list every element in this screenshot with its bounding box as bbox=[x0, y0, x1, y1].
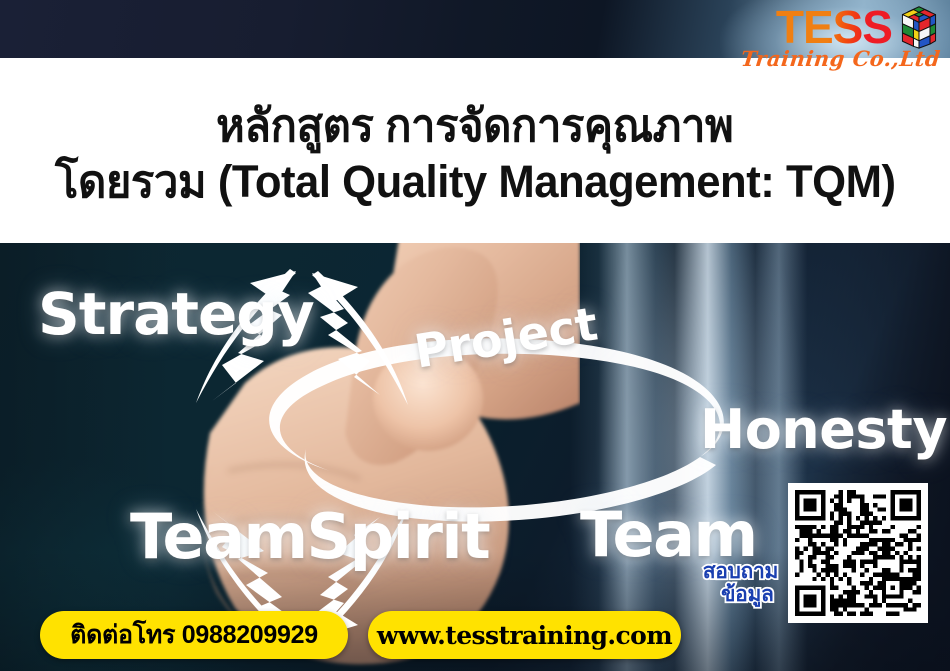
page-title-line1: หลักสูตร การจัดการคุณภาพ bbox=[216, 99, 733, 152]
logo-wordmark: TESS bbox=[776, 4, 892, 50]
website-button[interactable]: www.tesstraining.com bbox=[368, 611, 681, 659]
wordart-strategy: Strategy bbox=[38, 280, 314, 348]
phone-button[interactable]: ติดต่อโทร 0988209929 bbox=[40, 611, 348, 659]
wordart-teamspirit: TeamSpirit bbox=[130, 500, 489, 573]
qr-code[interactable] bbox=[788, 483, 928, 623]
poster-canvas: TESS bbox=[0, 0, 950, 671]
qr-caption-line2: ข้อมูล bbox=[717, 583, 778, 607]
qr-caption-line1: สอบถาม bbox=[703, 560, 778, 584]
tess-logo[interactable]: TESS bbox=[741, 4, 942, 69]
qr-caption: สอบถาม ข้อมูล bbox=[703, 560, 778, 607]
logo-subtitle: Training Co.,Ltd bbox=[740, 48, 942, 69]
wordart-honesty: Honesty bbox=[700, 398, 947, 461]
title-band: หลักสูตร การจัดการคุณภาพ โดยรวม (Total Q… bbox=[0, 58, 950, 243]
rubiks-cube-icon bbox=[896, 4, 942, 50]
logo-main-row: TESS bbox=[741, 4, 942, 50]
page-title-line2: โดยรวม (Total Quality Management: TQM) bbox=[55, 155, 896, 208]
